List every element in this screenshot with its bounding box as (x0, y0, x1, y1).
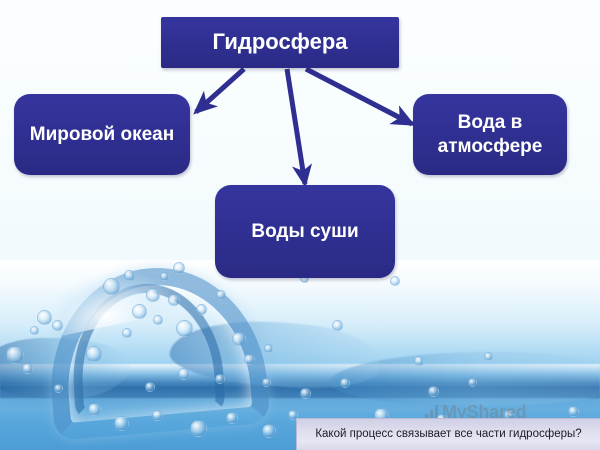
bubble (414, 356, 424, 366)
bubble (264, 344, 273, 353)
bubble (232, 332, 246, 346)
bubble (178, 368, 190, 380)
bubble (190, 420, 207, 437)
bubble (262, 378, 271, 387)
caption-bar: Какой процесс связывает все части гидрос… (296, 418, 600, 450)
bubble (132, 304, 147, 319)
arrow-to-land-waters (287, 69, 305, 184)
diagram-node-atmosphere-water-label: Вода в атмосфере (413, 111, 567, 157)
bubble (114, 416, 129, 431)
bubble (86, 346, 102, 362)
slide-canvas: MyShared Гидросфера Мировой океан Воды с… (0, 0, 600, 450)
bubble (262, 424, 276, 438)
bubble (122, 328, 132, 338)
caption-text: Какой процесс связывает все части гидрос… (315, 427, 581, 442)
diagram-node-land-waters-label: Воды суши (251, 220, 358, 243)
bubble (196, 304, 207, 315)
bubble (6, 346, 24, 364)
diagram-node-world-ocean[interactable]: Мировой океан (14, 94, 190, 175)
bubble (428, 386, 439, 397)
bubble (216, 290, 226, 300)
bubble (390, 276, 400, 286)
bubble (468, 378, 477, 387)
bubble (124, 270, 135, 281)
bubble (146, 288, 160, 302)
bubble (153, 315, 163, 325)
bubble (54, 384, 63, 393)
diagram-node-land-waters[interactable]: Воды суши (215, 185, 395, 278)
diagram-node-hydrosphere-label: Гидросфера (212, 29, 347, 56)
bubble (332, 320, 343, 331)
bubble (568, 406, 579, 417)
bubble (215, 374, 225, 384)
diagram-node-atmosphere-water[interactable]: Вода в атмосфере (413, 94, 567, 175)
bubble (226, 412, 238, 424)
bubble (37, 310, 52, 325)
bubble (103, 278, 120, 295)
diagram-node-world-ocean-label: Мировой океан (30, 123, 174, 146)
bubble (30, 326, 39, 335)
bubble (145, 382, 155, 392)
bubble (173, 262, 185, 274)
bubble (176, 320, 193, 337)
bubble (484, 352, 493, 361)
bubble (88, 403, 101, 416)
bubble (300, 388, 311, 399)
bubble (22, 363, 33, 374)
arrow-to-world-ocean (196, 69, 244, 112)
diagram-node-hydrosphere[interactable]: Гидросфера (161, 17, 399, 68)
bubble (340, 378, 350, 388)
arrow-to-atmosphere-water (306, 69, 412, 124)
bubble (160, 272, 169, 281)
bubble (152, 410, 163, 421)
bubble (52, 320, 63, 331)
bubble (168, 294, 180, 306)
bubble (244, 354, 255, 365)
